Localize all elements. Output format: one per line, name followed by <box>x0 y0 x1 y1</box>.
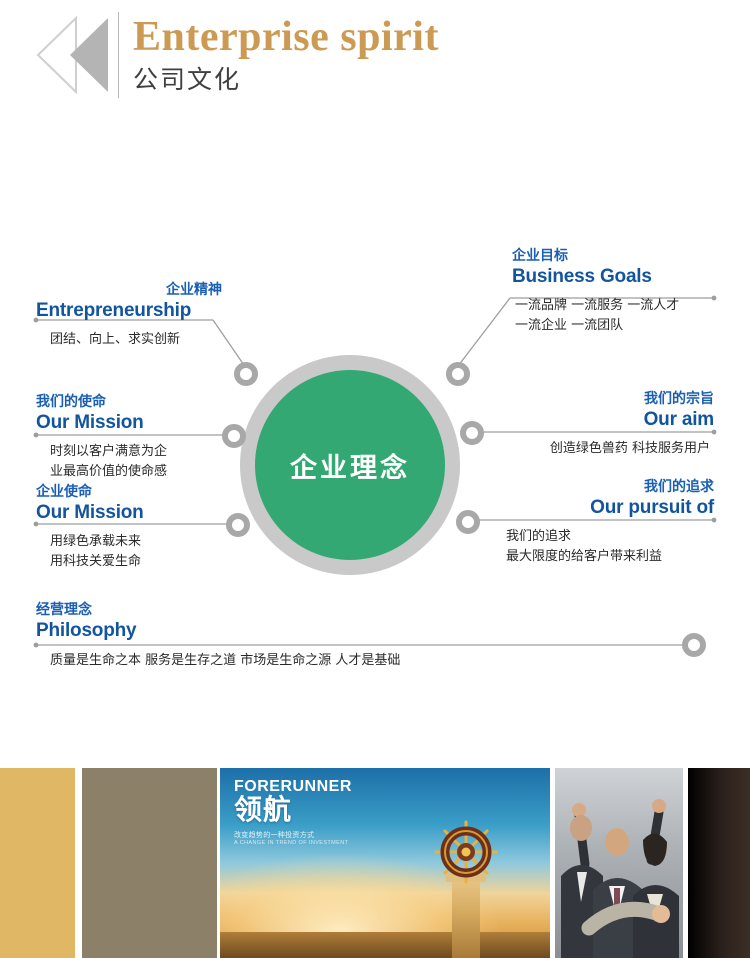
taupe-swatch-panel <box>82 768 217 958</box>
forerunner-poster-panel: FORERUNNER 领航 改变趋势的一种投资方式 A CHANGE IN TR… <box>220 768 550 958</box>
poster-subtitle-cn: 改变趋势的一种投资方式 <box>234 830 314 840</box>
block-body-line: 最大限度的给客户带来利益 <box>506 547 714 567</box>
lighthouse-tower <box>452 880 480 958</box>
block-body-line: 我们的追求 <box>506 527 714 547</box>
hub-node-top-right <box>446 362 470 386</box>
block-body-line: 用绿色承载未来 <box>50 532 256 552</box>
block-cn-title: 企业使命 <box>36 484 256 502</box>
team-photo-panel <box>555 768 683 958</box>
block-our-mission-1: 我们的使命 Our Mission 时刻以客户满意为企 业最高价值的使命感 <box>36 394 256 483</box>
block-cn-title: 我们的追求 <box>450 479 714 497</box>
header-divider <box>118 12 119 98</box>
block-our-aim: 我们的宗旨 Our aim 创造绿色兽药 科技服务用户 <box>470 391 714 459</box>
block-body-line: 质量是生命之本 服务是生存之道 市场是生命之源 人才是基础 <box>50 651 696 671</box>
page-title-en: Enterprise spirit <box>133 16 439 58</box>
poster-ground <box>220 932 550 958</box>
hub-node-top-left <box>234 362 258 386</box>
block-cn-title: 我们的宗旨 <box>470 391 714 409</box>
hub-disc: 企业理念 <box>255 370 445 560</box>
bottom-image-strip: FORERUNNER 领航 改变趋势的一种投资方式 A CHANGE IN TR… <box>0 768 750 958</box>
page-title-cn: 公司文化 <box>133 68 241 93</box>
poster-subtitle-en: A CHANGE IN TREND OF INVESTMENT <box>234 840 348 846</box>
poster-title-cn: 领航 <box>234 796 292 824</box>
cheering-team-figures <box>555 768 683 958</box>
block-body-line: 一流品牌 一流服务 一流人才 <box>515 296 714 316</box>
block-body-line: 用科技关爱生命 <box>50 552 256 572</box>
block-body-line: 团结、向上、求实创新 <box>50 330 286 350</box>
ships-wheel-icon <box>434 820 498 884</box>
block-body-line: 时刻以客户满意为企 <box>50 442 256 462</box>
block-cn-title: 经营理念 <box>36 602 696 620</box>
block-body-line: 创造绿色兽药 科技服务用户 <box>470 439 710 459</box>
block-entrepreneurship: 企业精神 Entrepreneurship 团结、向上、求实创新 <box>36 282 286 350</box>
block-cn-title: 企业精神 <box>36 282 286 300</box>
block-cn-title: 企业目标 <box>440 248 714 266</box>
block-body-line: 一流企业 一流团队 <box>515 316 714 336</box>
block-en-title: Our Mission <box>36 502 256 524</box>
hub-label: 企业理念 <box>290 446 410 485</box>
block-en-title: Our Mission <box>36 412 256 434</box>
block-body-line: 业最高价值的使命感 <box>50 462 256 482</box>
double-chevron-left-icon <box>30 14 120 96</box>
block-cn-title: 我们的使命 <box>36 394 256 412</box>
block-business-goals: 企业目标 Business Goals 一流品牌 一流服务 一流人才 一流企业 … <box>440 248 714 337</box>
block-our-mission-2: 企业使命 Our Mission 用绿色承载未来 用科技关爱生命 <box>36 484 256 573</box>
page-header: Enterprise spirit 公司文化 <box>0 0 750 130</box>
block-philosophy: 经营理念 Philosophy 质量是生命之本 服务是生存之道 市场是生命之源 … <box>36 602 696 671</box>
gold-swatch-panel <box>0 768 75 958</box>
block-our-pursuit: 我们的追求 Our pursuit of 我们的追求 最大限度的给客户带来利益 <box>450 479 714 568</box>
block-en-title: Entrepreneurship <box>36 300 286 322</box>
block-en-title: Our pursuit of <box>450 497 714 519</box>
block-en-title: Business Goals <box>440 266 714 288</box>
dark-swatch-panel <box>688 768 750 958</box>
block-en-title: Our aim <box>470 409 714 431</box>
block-en-title: Philosophy <box>36 620 696 642</box>
